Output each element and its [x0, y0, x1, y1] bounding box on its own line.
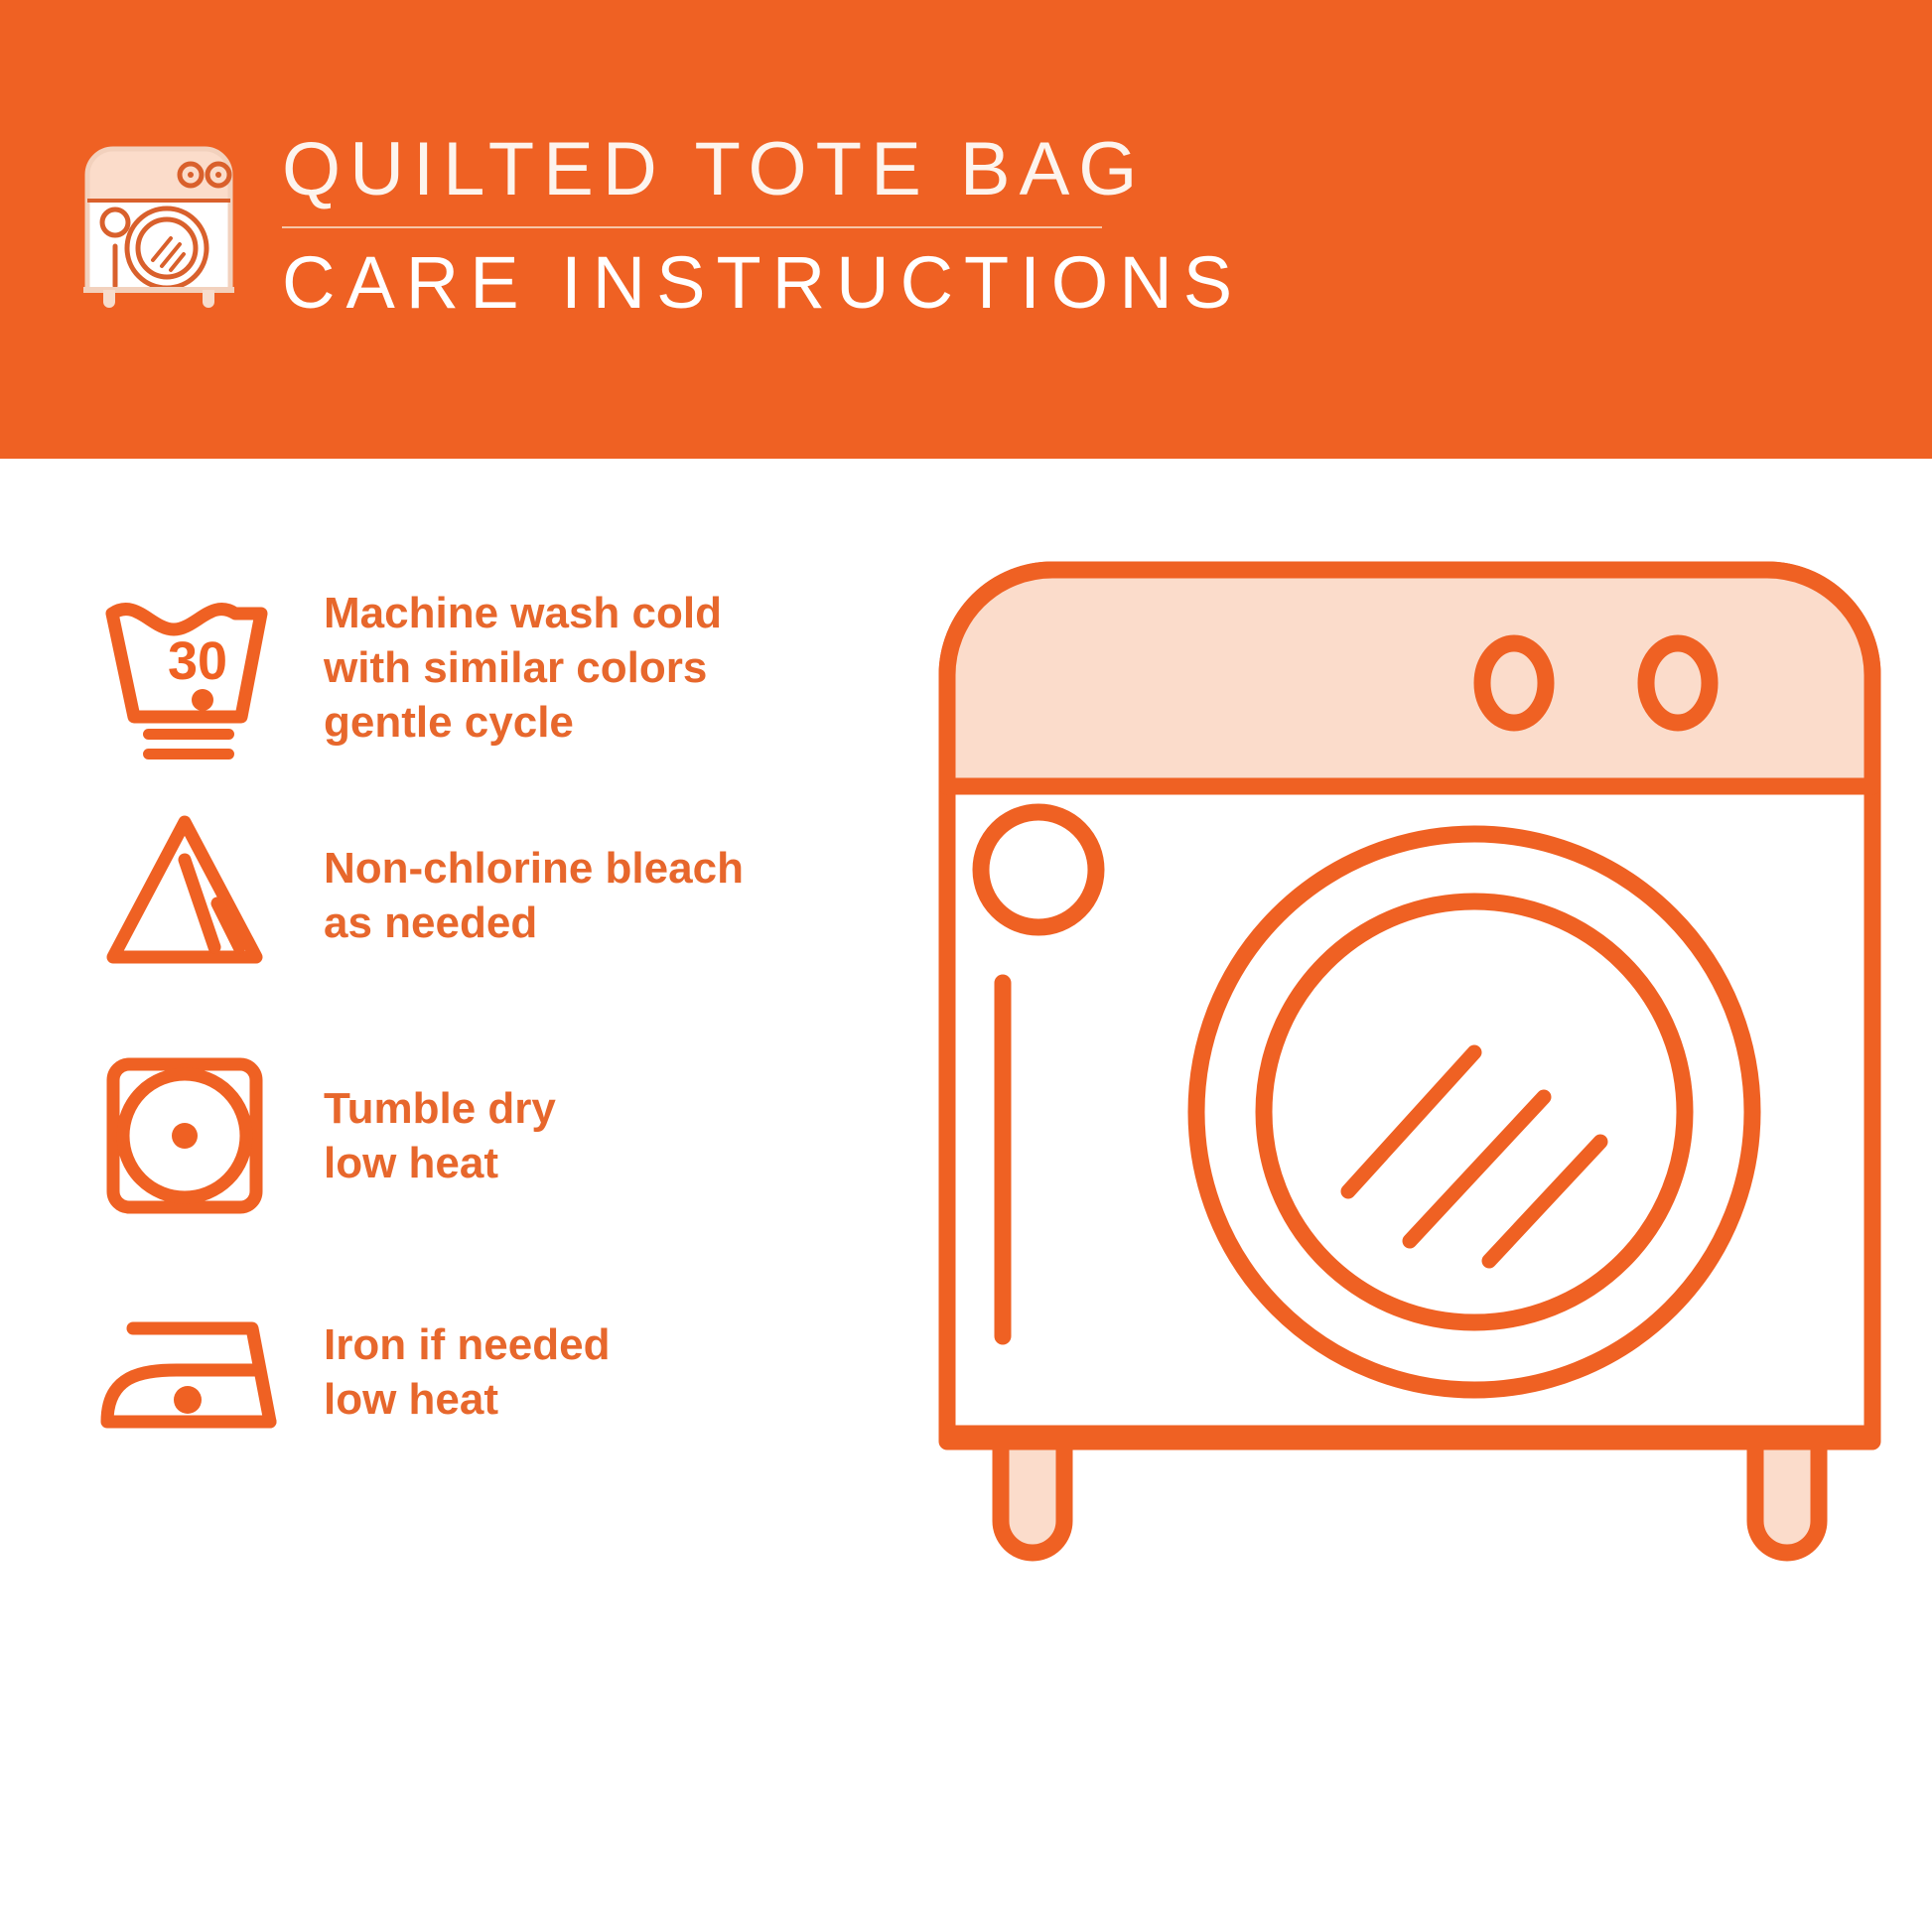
- care-instruction-item: Tumble dry low heat: [85, 1036, 556, 1235]
- knob-right-icon[interactable]: [1646, 643, 1710, 723]
- washing-machine-icon: [79, 141, 238, 308]
- front-load-washing-machine-illustration: [933, 556, 1886, 1628]
- header-title-group: QUILTED TOTE BAG CARE INSTRUCTIONS: [282, 127, 1243, 326]
- non-chlorine-bleach-triangle-icon: [85, 796, 284, 995]
- knob-left-icon[interactable]: [1482, 643, 1546, 723]
- header-content: QUILTED TOTE BAG CARE INSTRUCTIONS: [79, 127, 1243, 326]
- machine-control-panel: [947, 570, 1872, 786]
- wash-temperature-label: 30: [168, 631, 227, 691]
- header-band: QUILTED TOTE BAG CARE INSTRUCTIONS: [0, 0, 1932, 459]
- page-subtitle: CARE INSTRUCTIONS: [282, 240, 1243, 326]
- care-instruction-text: Tumble dry low heat: [324, 1081, 556, 1190]
- care-instruction-item: Iron if needed low heat: [85, 1273, 610, 1471]
- tumble-dry-low-icon: [85, 1036, 284, 1235]
- care-instruction-text: Iron if needed low heat: [324, 1317, 610, 1427]
- care-instruction-list: 30 Machine wash cold with similar colors…: [0, 459, 933, 1932]
- wash-basin-30-icon: 30: [85, 568, 284, 766]
- title-divider: [282, 226, 1102, 228]
- care-instruction-text: Machine wash cold with similar colors ge…: [324, 586, 722, 750]
- care-instruction-item: 30 Machine wash cold with similar colors…: [85, 568, 722, 766]
- care-instruction-item: Non-chlorine bleach as needed: [85, 796, 744, 995]
- page-title: QUILTED TOTE BAG: [282, 127, 1243, 212]
- care-instruction-text: Non-chlorine bleach as needed: [324, 841, 744, 950]
- iron-low-heat-icon: [85, 1273, 284, 1471]
